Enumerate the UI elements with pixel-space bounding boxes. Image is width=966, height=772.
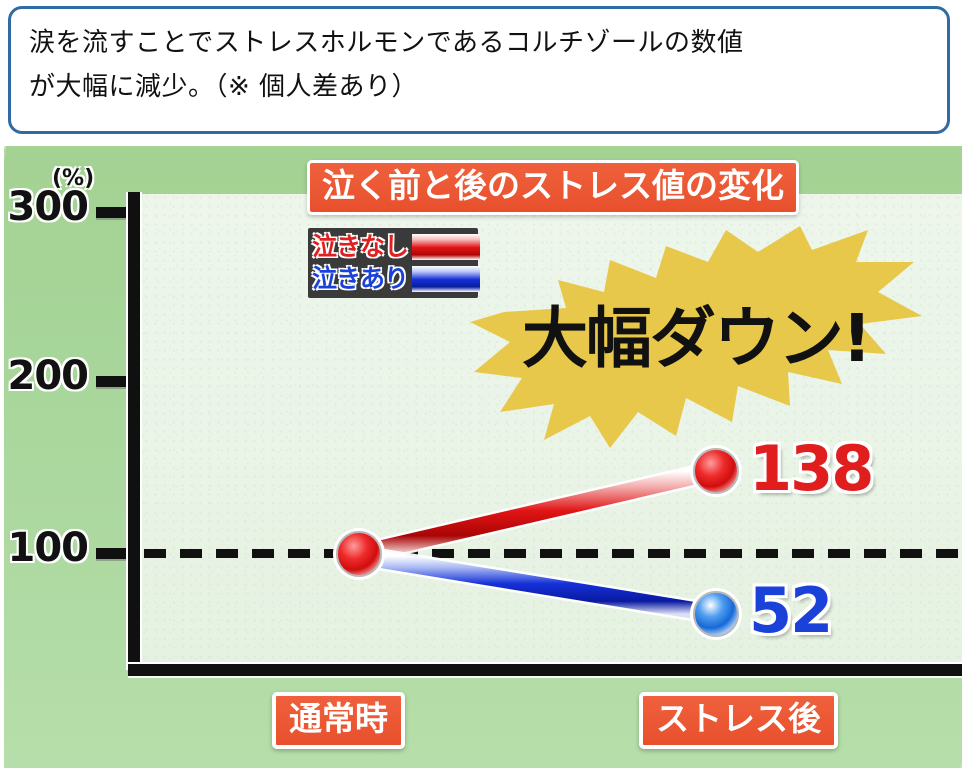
caption-box: 涙を流すことでストレスホルモンであるコルチゾールの数値 が大幅に減少。（※ 個人… — [8, 6, 950, 134]
marker-no-cry-end — [694, 449, 738, 493]
value-label-no-cry: 138 — [749, 432, 872, 505]
caption-line-2: が大幅に減少。（※ 個人差あり） — [29, 65, 929, 109]
marker-start-normal — [337, 532, 381, 576]
caption-line-1: 涙を流すことでストレスホルモンであるコルチゾールの数値 — [29, 21, 929, 65]
x-category-after-stress: ストレス後 — [639, 692, 838, 749]
series-line-no-cry — [359, 471, 716, 554]
chart-panel: (%) 300 200 100 泣く前と後のストレス値の変化 泣きなし 泣きあり — [4, 146, 962, 768]
x-category-normal: 通常時 — [272, 692, 405, 749]
marker-cry-end — [694, 592, 738, 636]
series-line-cry — [359, 556, 716, 614]
screenshot-root: 涙を流すことでストレスホルモンであるコルチゾールの数値 が大幅に減少。（※ 個人… — [0, 0, 966, 772]
value-label-cry: 52 — [749, 574, 831, 647]
